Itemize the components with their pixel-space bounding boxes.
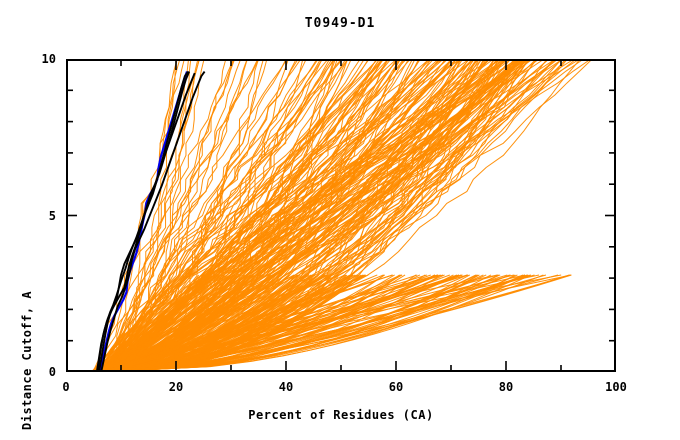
x-tick-label: 20 [156, 381, 196, 393]
chart-page: T0949-D1 Distance Cutoff, A Percent of R… [0, 0, 680, 440]
y-tick-label: 0 [48, 366, 56, 378]
x-tick-label: 80 [486, 381, 526, 393]
y-tick-label: 10 [40, 53, 56, 65]
y-axis-title: Distance Cutoff, A [20, 230, 34, 430]
chart-title: T0949-D1 [0, 16, 680, 31]
plot-frame [66, 59, 616, 372]
y-tick-label: 5 [48, 210, 56, 222]
plot-area [66, 59, 616, 372]
x-axis-title: Percent of Residues (CA) [66, 408, 616, 422]
x-tick-label: 100 [596, 381, 636, 393]
x-tick-label: 40 [266, 381, 306, 393]
x-tick-label: 0 [46, 381, 86, 393]
x-tick-label: 60 [376, 381, 416, 393]
